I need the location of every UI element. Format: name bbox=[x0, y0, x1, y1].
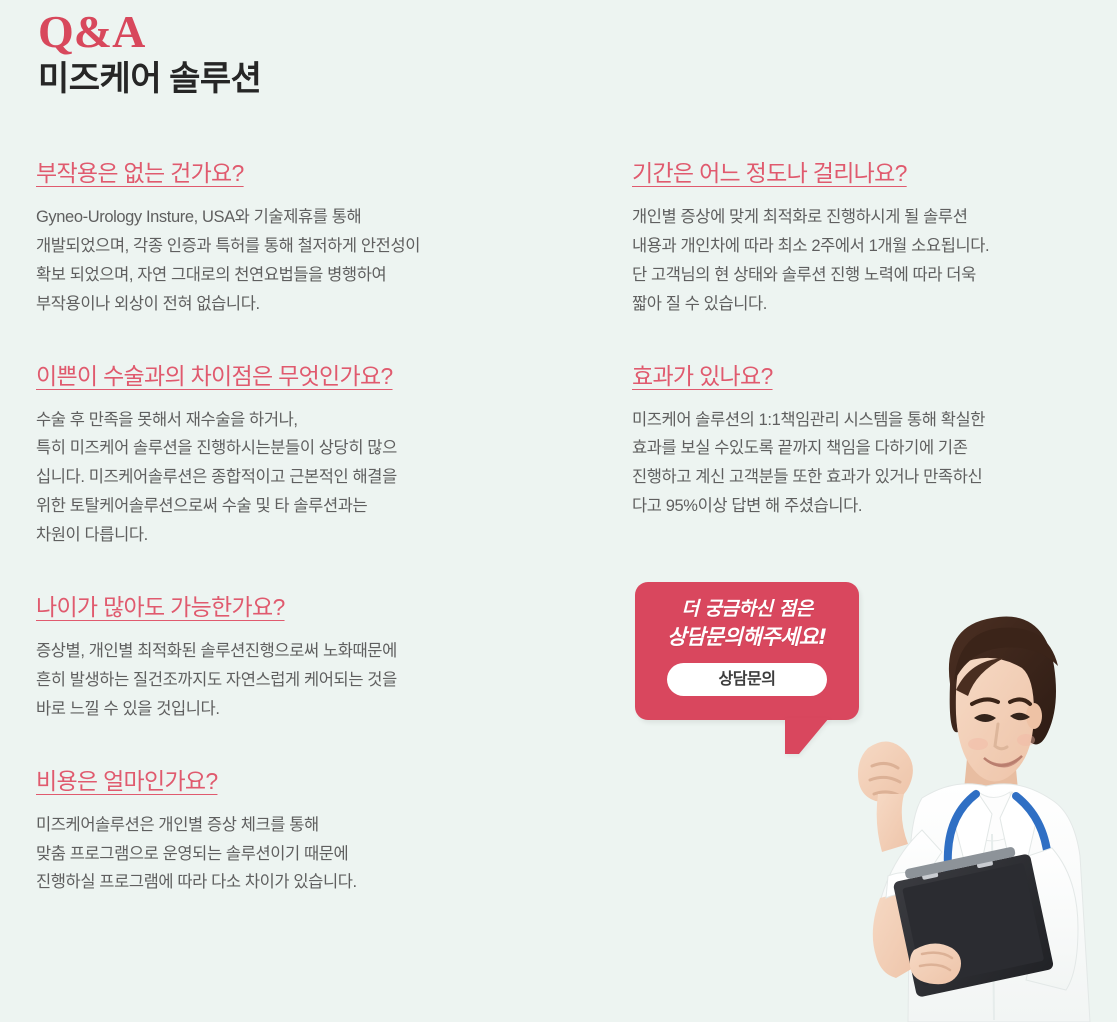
qa-answer: Gyneo-Urology Insture, USA와 기술제휴를 통해 개발되… bbox=[36, 203, 506, 319]
speech-bubble-tail-icon bbox=[785, 718, 829, 754]
consult-inquiry-button[interactable]: 상담문의 bbox=[667, 663, 827, 696]
qa-column-left: 부작용은 없는 건가요? Gyneo-Urology Insture, USA와… bbox=[36, 158, 506, 897]
qa-column-right: 기간은 어느 정도나 걸리나요? 개인별 증상에 맞게 최적화로 진행하시게 될… bbox=[632, 158, 1082, 521]
qa-question[interactable]: 나이가 많아도 가능한가요? bbox=[36, 592, 285, 623]
qa-question[interactable]: 부작용은 없는 건가요? bbox=[36, 158, 244, 189]
qa-item: 이쁜이 수술과의 차이점은 무엇인가요? 수술 후 만족을 못해서 재수술을 하… bbox=[36, 361, 506, 550]
qa-item: 비용은 얼마인가요? 미즈케어솔루션은 개인별 증상 체크를 통해 맞춤 프로그… bbox=[36, 766, 506, 898]
doctor-illustration bbox=[826, 598, 1117, 1022]
qa-answer: 미즈케어 솔루션의 1:1책임관리 시스템을 통해 확실한 효과를 보실 수있도… bbox=[632, 406, 1082, 522]
qa-answer: 미즈케어솔루션은 개인별 증상 체크를 통해 맞춤 프로그램으로 운영되는 솔루… bbox=[36, 811, 506, 898]
qa-item: 부작용은 없는 건가요? Gyneo-Urology Insture, USA와… bbox=[36, 158, 506, 319]
qa-question[interactable]: 기간은 어느 정도나 걸리나요? bbox=[632, 158, 907, 189]
page-subtitle: 미즈케어 솔루션 bbox=[38, 60, 261, 101]
qa-question[interactable]: 이쁜이 수술과의 차이점은 무엇인가요? bbox=[36, 361, 393, 392]
qa-item: 효과가 있나요? 미즈케어 솔루션의 1:1책임관리 시스템을 통해 확실한 효… bbox=[632, 361, 1082, 522]
qa-item: 나이가 많아도 가능한가요? 증상별, 개인별 최적화된 솔루션진행으로써 노화… bbox=[36, 592, 506, 724]
page-header: Q&A 미즈케어 솔루션 bbox=[38, 8, 261, 101]
doctor-photo bbox=[826, 598, 1117, 1022]
qa-answer: 증상별, 개인별 최적화된 솔루션진행으로써 노화때문에 흔히 발생하는 질건조… bbox=[36, 637, 506, 724]
qa-page: Q&A 미즈케어 솔루션 부작용은 없는 건가요? Gyneo-Urology … bbox=[0, 0, 1117, 1022]
qa-question[interactable]: 비용은 얼마인가요? bbox=[36, 766, 217, 797]
qa-item: 기간은 어느 정도나 걸리나요? 개인별 증상에 맞게 최적화로 진행하시게 될… bbox=[632, 158, 1082, 319]
qa-answer: 수술 후 만족을 못해서 재수술을 하거나, 특히 미즈케어 솔루션을 진행하시… bbox=[36, 406, 506, 550]
page-title: Q&A bbox=[38, 8, 261, 56]
qa-answer: 개인별 증상에 맞게 최적화로 진행하시게 될 솔루션 내용과 개인차에 따라 … bbox=[632, 203, 1082, 319]
qa-question[interactable]: 효과가 있나요? bbox=[632, 361, 773, 392]
